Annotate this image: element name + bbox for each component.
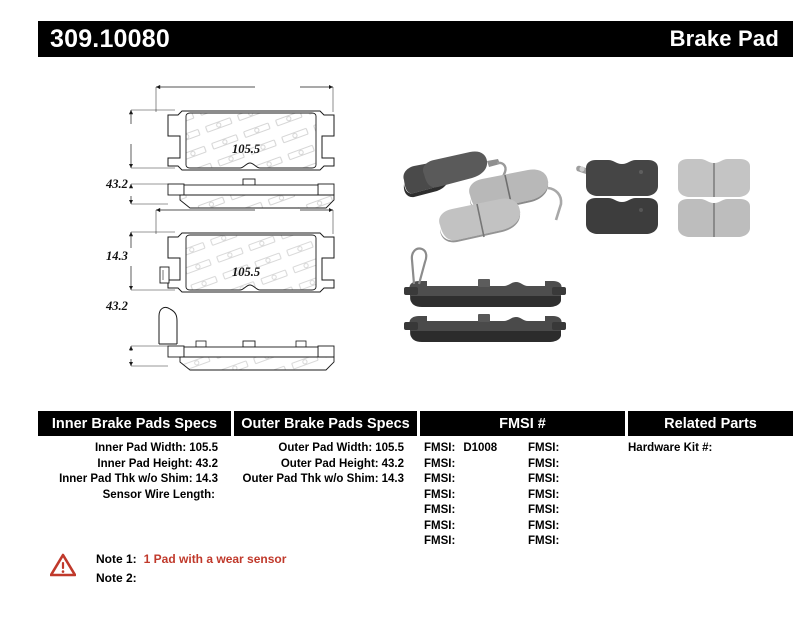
cell-inner-specs: Inner Pad Width:105.5 Inner Pad Height:4… [38,436,234,550]
table-header-row: Inner Brake Pads Specs Outer Brake Pads … [38,411,793,436]
product-type-title: Brake Pad [670,28,779,50]
outer-pad-face-outline [160,233,334,292]
specifications-table-wrap: Inner Brake Pads Specs Outer Brake Pads … [38,411,793,550]
cell-outer-specs: Outer Pad Width:105.5 Outer Pad Height:4… [234,436,420,550]
fmsi-right-label-2: FMSI: [528,473,559,485]
fmsi-left-label-0: FMSI: [424,442,455,454]
list-item: FMSI: [528,472,628,488]
list-item: FMSI: [528,519,628,535]
list-item: Inner Pad Height:43.2 [38,457,234,473]
inner-spec-label-1: Inner Pad Height: [97,458,192,470]
fmsi-left-label-2: FMSI: [424,473,455,485]
outer-spec-value-1: 43.2 [382,458,404,470]
brake-pad-edge-view-photo [404,249,566,342]
list-item: Outer Pad Width:105.5 [234,441,420,457]
outer-spec-value-2: 14.3 [382,473,404,485]
note-row-2: Note 2: [96,569,538,588]
top-height-label: 43.2 [106,177,128,192]
inner-pad-edge-view [168,179,334,208]
header-bar: 309.10080 Brake Pad [38,21,793,57]
list-item: Inner Pad Width:105.5 [38,441,234,457]
warning-triangle-icon [50,553,76,577]
notes-section: Note 1:1 Pad with a wear sensor Note 2: [38,550,538,588]
inner-spec-value-2: 14.3 [196,473,218,485]
list-item: FMSI: [424,519,524,535]
outer-spec-value-0: 105.5 [375,442,404,454]
list-item: FMSI: [528,503,628,519]
fmsi-column-right: FMSI: FMSI: FMSI: FMSI: [524,441,628,550]
fmsi-right-label-1: FMSI: [528,458,559,470]
list-item: FMSI: [528,488,628,504]
inner-spec-label-0: Inner Pad Width: [95,442,186,454]
inner-spec-value-1: 43.2 [196,458,218,470]
list-item: FMSI:D1008 [424,441,524,457]
fmsi-right-label-3: FMSI: [528,489,559,501]
fmsi-right-label-4: FMSI: [528,504,559,516]
bottom-width-dimension [156,210,333,234]
note-row-1: Note 1:1 Pad with a wear sensor [96,550,538,569]
fmsi-left-label-6: FMSI: [424,535,455,547]
outer-specs-list: Outer Pad Width:105.5 Outer Pad Height:4… [234,441,420,503]
outer-pad-edge-view [168,341,334,370]
brake-pad-set-angled-photo [403,151,561,242]
table-body-row: Inner Pad Width:105.5 Inner Pad Height:4… [38,436,793,550]
list-item: FMSI: [424,472,524,488]
header-fmsi: FMSI # [420,411,628,436]
list-item: Hardware Kit #: [628,441,793,457]
top-width-dimension [156,87,333,112]
note-2-label: Note 2: [96,569,137,588]
header-related-parts: Related Parts [628,411,793,436]
technical-drawings-svg [0,62,800,387]
list-item: Outer Pad Thk w/o Shim:14.3 [234,472,420,488]
list-item: Sensor Wire Length: [38,488,234,504]
fmsi-column-left: FMSI:D1008 FMSI: FMSI: FMSI: [420,441,524,550]
fmsi-right-label-0: FMSI: [528,442,559,454]
fmsi-left-label-1: FMSI: [424,458,455,470]
list-item: FMSI: [424,534,524,550]
fmsi-left-value-0: D1008 [463,442,497,454]
inner-specs-list: Inner Pad Width:105.5 Inner Pad Height:4… [38,441,234,503]
fmsi-columns: FMSI:D1008 FMSI: FMSI: FMSI: [420,441,628,550]
list-item: FMSI: [528,441,628,457]
related-part-label-0: Hardware Kit #: [628,442,712,454]
list-item: Inner Pad Thk w/o Shim:14.3 [38,472,234,488]
inner-spec-label-2: Inner Pad Thk w/o Shim: [59,473,193,485]
note-1-label: Note 1: [96,550,137,569]
bottom-width-label: 105.5 [232,265,260,280]
part-number: 309.10080 [50,27,170,52]
inner-spec-value-0: 105.5 [189,442,218,454]
wear-sensor-wire [159,307,177,344]
cell-related-parts: Hardware Kit #: [628,436,793,550]
list-item: FMSI: [424,488,524,504]
list-item: FMSI: [424,503,524,519]
specifications-table: Inner Brake Pads Specs Outer Brake Pads … [38,411,793,550]
bottom-height-label: 43.2 [106,299,128,314]
fmsi-left-label-4: FMSI: [424,504,455,516]
header-inner-specs: Inner Brake Pads Specs [38,411,234,436]
fmsi-right-label-6: FMSI: [528,535,559,547]
inner-spec-label-3: Sensor Wire Length: [103,489,215,501]
list-item: FMSI: [528,457,628,473]
list-item [234,488,420,504]
top-thickness-label: 14.3 [106,249,128,264]
outer-spec-label-2: Outer Pad Thk w/o Shim: [243,473,379,485]
header-outer-specs: Outer Brake Pads Specs [234,411,420,436]
bottom-thickness-dimension [131,346,168,366]
fmsi-left-label-3: FMSI: [424,489,455,501]
top-width-label: 105.5 [232,142,260,157]
top-thickness-dimension [131,184,168,204]
inner-pad-face-outline [168,111,334,170]
note-1-text: 1 Pad with a wear sensor [144,552,287,566]
list-item: FMSI: [528,534,628,550]
outer-spec-label-0: Outer Pad Width: [278,442,372,454]
outer-spec-label-1: Outer Pad Height: [281,458,379,470]
cell-fmsi: FMSI:D1008 FMSI: FMSI: FMSI: [420,436,628,550]
fmsi-right-label-5: FMSI: [528,520,559,532]
list-item: Outer Pad Height:43.2 [234,457,420,473]
brake-pad-set-flat-photo [576,159,750,237]
drawing-area: 105.5 43.2 14.3 105.5 43.2 14.3 [0,62,800,387]
fmsi-left-label-5: FMSI: [424,520,455,532]
list-item: FMSI: [424,457,524,473]
